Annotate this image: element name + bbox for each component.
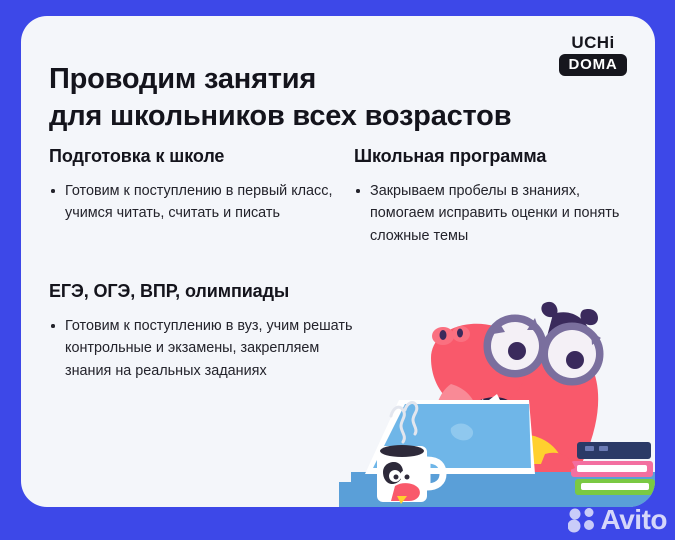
bullet-list-school-program: Закрываем пробелы в знаниях, помогаем ис…: [354, 180, 644, 247]
content-card: UCHi DOMA Проводим занятия для школьнико…: [21, 16, 655, 507]
dino-pupil-right: [566, 351, 584, 369]
dino-nostril-left: [440, 330, 447, 340]
dino-pupil-left: [508, 342, 526, 360]
section-exams: ЕГЭ, ОГЭ, ВПР, олимпиады Готовим к посту…: [49, 281, 369, 382]
bullet-list-exams: Готовим к поступлению в вуз, учим решать…: [49, 315, 369, 382]
book-middle-pages: [577, 465, 647, 472]
mug-coffee: [380, 445, 424, 457]
mug-dino-pupil-left: [394, 475, 399, 480]
section-school-program: Школьная программа Закрываем пробелы в з…: [354, 146, 644, 247]
book-stack: [571, 442, 655, 495]
page-title-line-2: для школьников всех возрастов: [49, 98, 569, 135]
mug-dino-body: [391, 483, 420, 501]
section-heading-school-program: Школьная программа: [354, 146, 644, 167]
list-item: Закрываем пробелы в знаниях, помогаем ис…: [354, 180, 644, 247]
section-preschool: Подготовка к школе Готовим к поступлению…: [49, 146, 349, 225]
section-heading-exams: ЕГЭ, ОГЭ, ВПР, олимпиады: [49, 281, 369, 302]
book-top-detail-2: [599, 446, 608, 451]
page-title-line-1: Проводим занятия: [49, 61, 569, 98]
mug-dino-pupil-right: [405, 475, 410, 480]
logo-text-uchi: UCHi: [557, 34, 629, 51]
section-heading-preschool: Подготовка к школе: [49, 146, 349, 167]
list-item: Готовим к поступлению в вуз, учим решать…: [49, 315, 369, 382]
avito-watermark: Avito: [568, 506, 667, 534]
book-top-detail: [585, 446, 594, 451]
page-title: Проводим занятия для школьников всех воз…: [49, 61, 569, 134]
dino-nostril-right: [457, 329, 463, 338]
list-item: Готовим к поступлению в первый класс, уч…: [49, 180, 349, 225]
book-bottom-pages: [581, 483, 649, 490]
avito-watermark-label: Avito: [601, 506, 667, 534]
bullet-list-preschool: Готовим к поступлению в первый класс, уч…: [49, 180, 349, 225]
illustration-dinosaur-at-laptop: [339, 296, 655, 507]
poster: UCHi DOMA Проводим занятия для школьнико…: [0, 0, 675, 540]
logo-text-doma: DOMA: [559, 54, 626, 76]
avito-logo-icon: [568, 507, 598, 533]
dino-eyebrow-left: [541, 302, 557, 317]
